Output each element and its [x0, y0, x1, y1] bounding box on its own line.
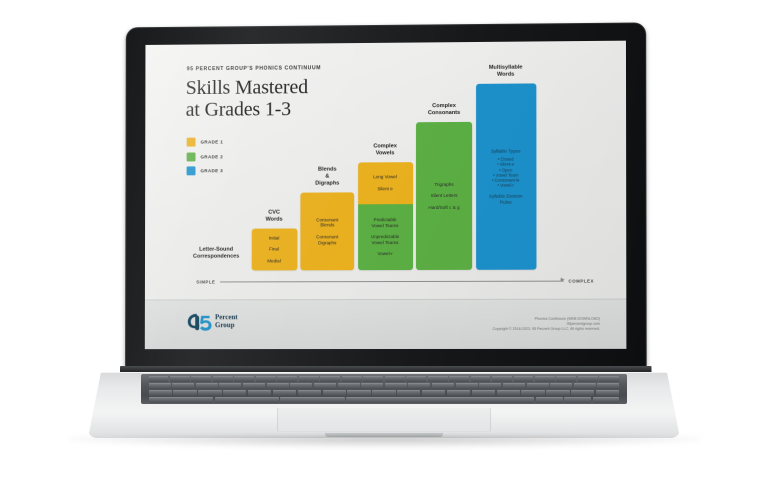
key: [449, 376, 469, 382]
key: [361, 383, 383, 389]
column-title-cvc-words: CVC Words: [263, 210, 286, 224]
keyboard-row: [149, 397, 620, 403]
segment-skill: Trigraphs: [434, 182, 453, 188]
laptop-screen: 95 PERCENT GROUP'S PHONICS CONTINUUM Ski…: [145, 41, 627, 349]
slide-body: 95 PERCENT GROUP'S PHONICS CONTINUUM Ski…: [145, 41, 626, 301]
logo-wordmark: Percent Group: [215, 314, 238, 329]
column-label-letter-sound: Letter-Sound Correspondences: [193, 247, 239, 261]
key: [342, 376, 362, 382]
key: [363, 376, 383, 382]
key: [599, 376, 619, 382]
bar-segment-complex-vowels-0[interactable]: Long VowelSilent e: [358, 162, 413, 204]
footer-legal-line-3: Copyright © 2018-2023, 95 Percent Group …: [492, 327, 600, 332]
key: [571, 390, 594, 396]
presentation-slide: 95 PERCENT GROUP'S PHONICS CONTINUUM Ski…: [145, 41, 627, 349]
key: [149, 383, 171, 389]
axis-label-simple: SIMPLE: [196, 279, 215, 284]
key: [243, 383, 265, 389]
key: [320, 376, 340, 382]
segment-skill: Silent Letters: [431, 193, 458, 199]
key: [503, 383, 525, 389]
key: [456, 383, 478, 389]
key: [298, 390, 321, 396]
axis-arrow-icon: [560, 278, 564, 282]
screenshot-stage: 95 PERCENT GROUP'S PHONICS CONTINUUM Ski…: [0, 0, 768, 483]
key: [256, 376, 276, 382]
key: [428, 376, 448, 382]
key: [472, 390, 495, 396]
key: [149, 390, 172, 396]
key: [215, 397, 279, 403]
segment-skill: Vowel-r: [377, 251, 392, 257]
keyboard-row: [149, 383, 620, 389]
laptop-shadow: [70, 436, 700, 448]
key: [406, 376, 426, 382]
key: [267, 383, 289, 389]
key: [471, 376, 491, 382]
key: [564, 397, 591, 403]
key-space: [346, 397, 534, 403]
key: [550, 383, 572, 389]
key: [432, 383, 454, 389]
bar-segment-multisyllable-words-0[interactable]: Syllable Types• Closed• Silent-e• Open• …: [476, 83, 536, 269]
key: [397, 390, 420, 396]
segment-skill: Syllable Division Rules: [489, 194, 523, 205]
key: [578, 376, 598, 382]
key: [596, 390, 619, 396]
bar-segment-cvc-words-0[interactable]: InitialFinalMedial: [251, 228, 297, 270]
key: [521, 390, 544, 396]
key: [385, 376, 405, 382]
key: [149, 376, 169, 382]
key: [149, 397, 213, 403]
key: [219, 383, 241, 389]
keyboard-row: [149, 376, 620, 382]
brand-logo: Percent Group: [186, 312, 237, 331]
phonics-continuum-chart: Letter-Sound CorrespondencesCVC WordsIni…: [184, 57, 604, 271]
logo-95-mark: [186, 312, 212, 331]
bar-segment-complex-consonants-0[interactable]: TrigraphsSilent LettersHard/Soft c & g: [416, 122, 472, 270]
key: [172, 383, 194, 389]
segment-skill: Predictable Vowel Teams: [372, 217, 399, 228]
key: [546, 390, 569, 396]
key: [574, 383, 596, 389]
chart-column-cvc-words[interactable]: CVC WordsInitialFinalMedial: [251, 228, 297, 270]
segment-skill: Unpredictable Vowel Teams: [371, 234, 399, 245]
laptop-base: [88, 372, 680, 438]
chart-column-complex-vowels[interactable]: Complex VowelsLong VowelSilent ePredicta…: [358, 162, 413, 270]
key: [299, 376, 319, 382]
segment-skill: Long Vowel: [373, 175, 397, 181]
chart-column-blends-digraphs[interactable]: Blends & DigraphsConsonant BlendsConsona…: [300, 192, 354, 270]
column-title-blends-digraphs: Blends & Digraphs: [314, 167, 341, 188]
bar-segment-blends-digraphs-0[interactable]: Consonant BlendsConsonant Digraphs: [300, 192, 354, 270]
segment-skill: Final: [269, 247, 279, 253]
key: [536, 397, 563, 403]
key: [593, 397, 620, 403]
complexity-axis: SIMPLE COMPLEX: [196, 276, 594, 287]
segment-skill: Medial: [267, 258, 280, 264]
key: [408, 383, 430, 389]
bar-segment-complex-vowels-1[interactable]: Predictable Vowel TeamsUnpredictable Vow…: [358, 204, 413, 270]
key: [223, 390, 246, 396]
key: [273, 390, 296, 396]
footer-legal-text: Phonics Continuum (WEB DOWNLOAD) 95perce…: [492, 317, 600, 333]
key: [497, 390, 520, 396]
key: [422, 390, 445, 396]
segment-skill: Consonant Digraphs: [316, 234, 338, 245]
key: [492, 376, 512, 382]
slide-footer: Percent Group Phonics Continuum (WEB DOW…: [145, 299, 627, 350]
key: [323, 390, 346, 396]
chart-column-complex-consonants[interactable]: Complex ConsonantsTrigraphsSilent Letter…: [416, 122, 472, 270]
keyboard-row: [149, 390, 620, 396]
laptop-lid: 95 PERCENT GROUP'S PHONICS CONTINUUM Ski…: [125, 22, 647, 369]
key: [248, 390, 271, 396]
column-title-multisyllable-words: Multisyllable Words: [489, 65, 523, 79]
key: [556, 376, 576, 382]
key: [535, 376, 555, 382]
keyboard: [141, 374, 626, 404]
segment-bullet: • Vowel-r: [492, 183, 520, 188]
key: [290, 383, 312, 389]
bar-blends-digraphs[interactable]: Consonant BlendsConsonant Digraphs: [300, 192, 354, 270]
bar-complex-vowels[interactable]: Long VowelSilent ePredictable Vowel Team…: [358, 162, 413, 270]
key: [277, 376, 297, 382]
key: [527, 383, 549, 389]
key: [196, 383, 218, 389]
chart-column-letter-sound[interactable]: Letter-Sound Correspondences: [184, 247, 247, 271]
key: [198, 390, 221, 396]
segment-skill: Consonant Blends: [316, 217, 338, 228]
key: [514, 376, 534, 382]
trackpad: [277, 408, 490, 432]
key: [170, 376, 190, 382]
key: [191, 376, 211, 382]
key: [314, 383, 336, 389]
laptop-mockup: 95 PERCENT GROUP'S PHONICS CONTINUUM Ski…: [0, 0, 768, 483]
key: [447, 390, 470, 396]
column-title-complex-vowels: Complex Vowels: [371, 143, 398, 157]
key: [347, 390, 370, 396]
key: [479, 383, 501, 389]
bar-cvc-words[interactable]: InitialFinalMedial: [251, 228, 297, 270]
bar-multisyllable-words[interactable]: Syllable Types• Closed• Silent-e• Open• …: [476, 83, 536, 269]
segment-bullet-list: • Closed• Silent-e• Open• Vowel Team• Co…: [492, 157, 520, 188]
key: [338, 383, 360, 389]
bar-complex-consonants[interactable]: TrigraphsSilent LettersHard/Soft c & g: [416, 122, 472, 270]
segment-skill: Hard/Soft c & g: [428, 205, 459, 211]
key: [372, 390, 395, 396]
axis-line: [220, 280, 563, 282]
key: [597, 383, 619, 389]
chart-column-multisyllable-words[interactable]: Multisyllable WordsSyllable Types• Close…: [476, 83, 536, 269]
key: [385, 383, 407, 389]
key: [173, 390, 196, 396]
key: [213, 376, 233, 382]
key: [280, 397, 344, 403]
segment-skill: Initial: [269, 235, 280, 241]
segment-skill: Syllable Types: [491, 148, 521, 154]
axis-label-complex: COMPLEX: [568, 278, 593, 283]
column-title-complex-consonants: Complex Consonants: [428, 103, 460, 117]
segment-skill: Silent e: [377, 186, 392, 192]
key: [234, 376, 254, 382]
